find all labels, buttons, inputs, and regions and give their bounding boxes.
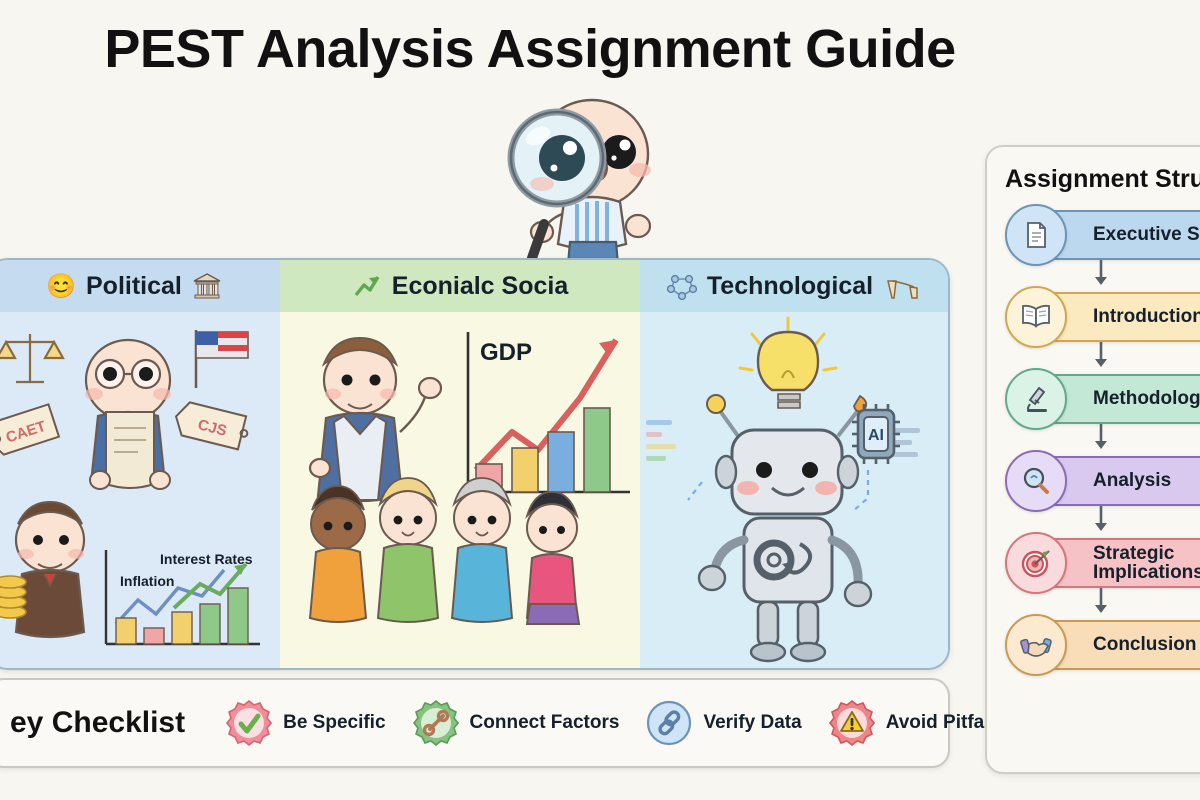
flow-arrow-icon (1091, 508, 1200, 532)
infographic-canvas: PEST Analysis Assignment Guide (0, 0, 1200, 800)
microscope-icon (1005, 368, 1067, 430)
pest-header-political: 😊 Political (0, 260, 280, 312)
sidebar-step-label: Strategic Implications (1093, 544, 1200, 583)
checklist-item-connect-factors[interactable]: Connect Factors (412, 699, 620, 747)
sidebar-step-label: Methodology (1093, 389, 1200, 408)
chart-label-gdp: GDP (480, 339, 532, 366)
link-badge-icon (412, 699, 460, 747)
sidebar-title: Assignment Struct (1005, 165, 1200, 194)
sidebar-step-analysis[interactable]: Analysis (1001, 450, 1200, 508)
chart-label-inflation: Inflation (120, 573, 174, 589)
flow-arrow-icon (1091, 426, 1200, 450)
sidebar-step-label: Executive Summ (1093, 225, 1200, 244)
pest-label-economic: Econialc Socia (392, 272, 568, 301)
flow-arrow-icon (1091, 262, 1200, 286)
smiley-emoji-icon: 😊 (46, 272, 76, 301)
warning-badge-icon (828, 699, 876, 747)
chain-circle-icon (645, 699, 693, 747)
key-checklist-bar: ey Checklist Be Specific (0, 678, 950, 768)
target-icon (1005, 532, 1067, 594)
pest-body-economic: GDP (280, 312, 640, 668)
sidebar-step-label: Conclusion (1093, 635, 1196, 654)
network-nodes-icon (667, 271, 697, 301)
checklist-title: ey Checklist (10, 706, 185, 740)
handshake-icon (1005, 614, 1067, 676)
checklist-item-avoid-pitfalls[interactable]: Avoid Pitfalls (828, 699, 1006, 747)
chart-label-interest-rates: Interest Rates (160, 551, 253, 567)
flow-arrow-icon (1091, 344, 1200, 368)
pest-column-technological[interactable]: Technological (640, 260, 948, 668)
assignment-structure-panel: Assignment Struct Executive Summ (985, 145, 1200, 774)
pest-matrix-card: 😊 Political (0, 258, 950, 670)
sidebar-step-conclusion[interactable]: Conclusion (1001, 614, 1200, 672)
pest-header-economic: Econialc Socia (280, 260, 640, 312)
flow-arrow-icon (1091, 590, 1200, 614)
sidebar-steps: Executive Summ Introduction (987, 204, 1200, 672)
pest-header-technological: Technological (640, 260, 948, 312)
checklist-item-verify-data[interactable]: Verify Data (645, 699, 801, 747)
pest-column-economic[interactable]: Econialc Socia (280, 260, 640, 668)
mascot-character (492, 92, 672, 267)
pest-body-political: CAET CJS (0, 312, 280, 668)
sidebar-step-methodology[interactable]: Methodology (1001, 368, 1200, 426)
sidebar-step-strategic-implications[interactable]: Strategic Implications (1001, 532, 1200, 590)
chip-label-ai: AI (868, 427, 884, 444)
pest-label-political: Political (86, 272, 182, 301)
bridge-crane-icon (883, 271, 921, 301)
checklist-label: Verify Data (703, 712, 801, 734)
magnifier-icon (1005, 450, 1067, 512)
growth-arrow-icon (352, 271, 382, 301)
sidebar-step-label: Introduction (1093, 307, 1200, 326)
pest-column-political[interactable]: 😊 Political (0, 260, 280, 668)
document-icon (1005, 204, 1067, 266)
pest-label-technological: Technological (707, 272, 873, 301)
classical-building-icon (192, 271, 222, 301)
pest-body-technological: AI (640, 312, 948, 668)
checklist-item-be-specific[interactable]: Be Specific (225, 699, 385, 747)
checklist-label: Connect Factors (470, 712, 620, 734)
checklist-items: Be Specific Connect Factors (225, 699, 1005, 747)
sidebar-step-label: Analysis (1093, 471, 1171, 490)
page-title: PEST Analysis Assignment Guide (0, 18, 1060, 80)
check-badge-icon (225, 699, 273, 747)
checklist-label: Be Specific (283, 712, 385, 734)
sidebar-step-introduction[interactable]: Introduction (1001, 286, 1200, 344)
sidebar-step-executive-summary[interactable]: Executive Summ (1001, 204, 1200, 262)
open-book-icon (1005, 286, 1067, 348)
